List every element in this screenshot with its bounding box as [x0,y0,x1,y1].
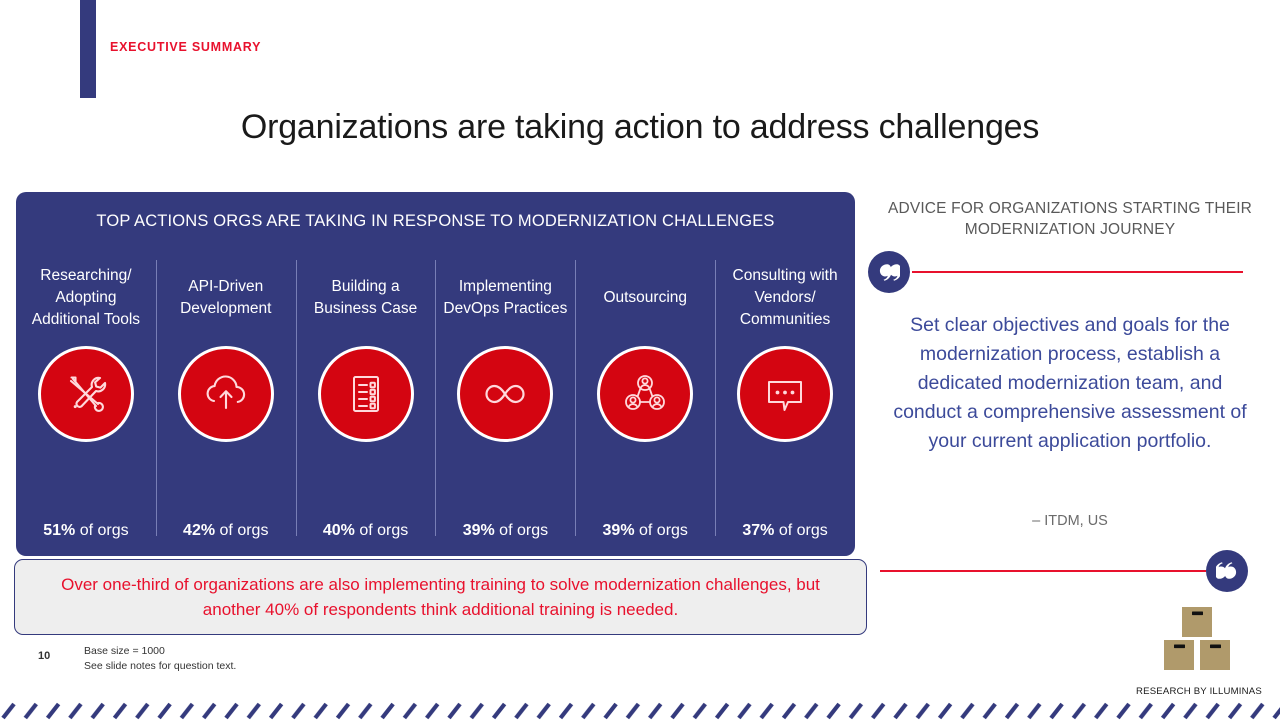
section-eyebrow: EXECUTIVE SUMMARY [110,40,261,54]
action-column-outsourcing: Outsourcing [575,254,715,544]
action-stat-suffix: of orgs [495,522,548,539]
action-stat-suffix: of orgs [75,522,128,539]
action-stat: 39% of orgs [603,522,688,544]
action-label: Consulting with Vendors/ Communities [719,254,851,342]
quote-open-icon [868,251,910,293]
advice-attribution: – ITDM, US [885,513,1255,529]
action-stat-suffix: of orgs [355,522,408,539]
action-label: Researching/ Adopting Additional Tools [20,254,152,342]
checklist-document-icon [318,346,414,442]
infinity-icon [457,346,553,442]
action-stat: 40% of orgs [323,522,408,544]
action-percent: 37% [742,522,774,539]
action-label: API-Driven Development [160,254,292,342]
question-text-note: See slide notes for question text. [84,659,236,674]
training-callout-box: Over one-third of organizations are also… [14,559,867,635]
actions-columns: Researching/ Adopting Additional Tools 5… [16,254,855,544]
action-stat-suffix: of orgs [774,522,827,539]
slide: EXECUTIVE SUMMARY Organizations are taki… [0,0,1280,720]
action-column-devops-practices: Implementing DevOps Practices 39% of org… [435,254,575,544]
action-label: Implementing DevOps Practices [439,254,571,342]
action-label: Building a Business Case [300,254,432,342]
action-column-api-driven-development: API-Driven Development 42% of orgs [156,254,296,544]
action-label: Outsourcing [601,254,689,342]
action-stat-suffix: of orgs [635,522,688,539]
action-column-building-business-case: Building a Business Case 40% of orgs [296,254,436,544]
action-stat-suffix: of orgs [215,522,268,539]
action-percent: 42% [183,522,215,539]
action-column-researching-adopting-tools: Researching/ Adopting Additional Tools 5… [16,254,156,544]
action-percent: 40% [323,522,355,539]
page-title: Organizations are taking action to addre… [0,108,1280,147]
advice-quote: Set clear objectives and goals for the m… [885,311,1255,456]
action-percent: 51% [43,522,75,539]
tools-icon [38,346,134,442]
illuminas-boxes-logo [1155,606,1239,672]
action-percent: 39% [603,522,635,539]
callout-text: Over one-third of organizations are also… [35,572,847,622]
panel-title: TOP ACTIONS ORGS ARE TAKING IN RESPONSE … [16,212,855,231]
bottom-slash-pattern [0,696,1280,720]
header-accent-bar [80,0,96,98]
speech-bubble-icon [737,346,833,442]
advice-heading: ADVICE FOR ORGANIZATIONS STARTING THEIR … [875,198,1265,241]
action-percent: 39% [463,522,495,539]
action-column-consulting-vendors-communities: Consulting with Vendors/ Communities 37%… [715,254,855,544]
quote-rule-top [912,271,1243,273]
footnote: Base size = 1000 See slide notes for que… [84,644,236,674]
top-actions-panel: TOP ACTIONS ORGS ARE TAKING IN RESPONSE … [16,192,855,556]
people-network-icon [597,346,693,442]
action-stat: 39% of orgs [463,522,548,544]
quote-close-icon [1206,550,1248,592]
base-size-note: Base size = 1000 [84,644,236,659]
page-number: 10 [38,650,50,662]
action-stat: 42% of orgs [183,522,268,544]
action-stat: 37% of orgs [742,522,827,544]
action-stat: 51% of orgs [43,522,128,544]
quote-rule-bottom [880,570,1206,572]
cloud-upload-icon [178,346,274,442]
